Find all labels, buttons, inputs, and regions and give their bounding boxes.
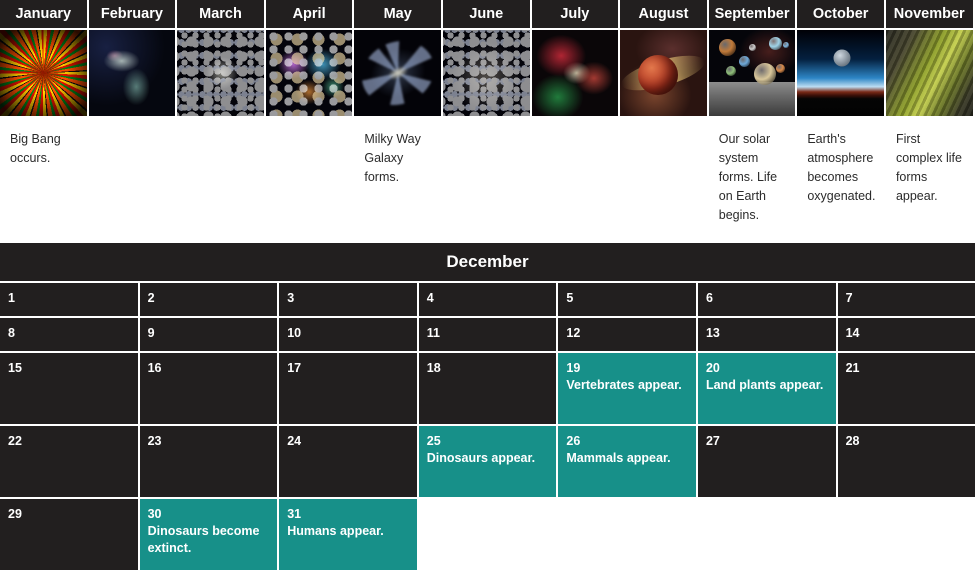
calendar-day-cell-2[interactable]: 2 (140, 283, 278, 316)
planet-7 (783, 42, 789, 48)
calendar-week-row: 22232425Dinosaurs appear.26Mammals appea… (0, 426, 975, 497)
lunar-ground (709, 82, 796, 116)
calendar-day-cell-31[interactable]: 31Humans appear. (279, 499, 417, 570)
month-column-february: February (89, 0, 176, 225)
calendar-day-cell-21[interactable]: 21 (838, 353, 975, 424)
calendar-day-cell-28[interactable]: 28 (838, 426, 975, 497)
planet-5 (754, 63, 776, 85)
calendar-empty-cell (419, 499, 557, 570)
calendar-day-cell-3[interactable]: 3 (279, 283, 417, 316)
calendar-day-cell-24[interactable]: 24 (279, 426, 417, 497)
day-number: 29 (8, 506, 138, 523)
earth-atmosphere-limb-art (797, 30, 884, 116)
calendar-day-cell-1[interactable]: 1 (0, 283, 138, 316)
day-number: 11 (427, 325, 557, 342)
calendar-day-cell-22[interactable]: 22 (0, 426, 138, 497)
deep-field-galaxies-image (443, 30, 530, 116)
month-caption-september: Our solar system forms. Life on Earth be… (709, 116, 796, 225)
day-number: 25 (427, 433, 557, 450)
earth-atmosphere-limb-image (797, 30, 884, 116)
day-number: 24 (287, 433, 417, 450)
day-number: 19 (566, 360, 696, 377)
calendar-day-cell-9[interactable]: 9 (140, 318, 278, 351)
month-header-november: November (886, 0, 973, 28)
month-header-february: February (89, 0, 176, 28)
calendar-day-cell-27[interactable]: 27 (698, 426, 836, 497)
month-caption-august (620, 116, 707, 216)
calendar-day-cell-26[interactable]: 26Mammals appear. (558, 426, 696, 497)
month-header-january: January (0, 0, 87, 28)
calendar-day-cell-16[interactable]: 16 (140, 353, 278, 424)
day-number: 9 (148, 325, 278, 342)
day-number: 12 (566, 325, 696, 342)
day-event-label: Humans appear. (287, 523, 417, 540)
day-number: 10 (287, 325, 417, 342)
month-column-august: August (620, 0, 707, 225)
calendar-day-cell-18[interactable]: 18 (419, 353, 557, 424)
calendar-week-row: 891011121314 (0, 318, 975, 351)
day-number: 22 (8, 433, 138, 450)
calendar-day-cell-8[interactable]: 8 (0, 318, 138, 351)
planet-4 (726, 66, 736, 76)
galaxy-cluster-art (266, 30, 353, 116)
ringed-gas-giant-art (620, 30, 707, 116)
day-number: 5 (566, 290, 696, 307)
day-number: 13 (706, 325, 836, 342)
star-forming-nebula-image (532, 30, 619, 116)
month-header-april: April (266, 0, 353, 28)
calendar-day-cell-13[interactable]: 13 (698, 318, 836, 351)
month-header-may: May (354, 0, 441, 28)
day-number: 4 (427, 290, 557, 307)
planet-3 (739, 56, 750, 67)
big-bang-explosion-art (0, 30, 87, 116)
nebula-pillars-image (89, 30, 176, 116)
month-column-october: OctoberEarth's atmosphere becomes oxygen… (797, 0, 884, 225)
day-number: 28 (846, 433, 975, 450)
month-header-july: July (532, 0, 619, 28)
calendar-week-row: 1234567 (0, 283, 975, 316)
galaxy-cluster-image (266, 30, 353, 116)
month-column-march: March (177, 0, 264, 225)
calendar-day-cell-12[interactable]: 12 (558, 318, 696, 351)
star-cluster-art (177, 30, 264, 116)
month-header-august: August (620, 0, 707, 28)
calendar-title: December (0, 243, 975, 281)
calendar-day-cell-11[interactable]: 11 (419, 318, 557, 351)
month-header-march: March (177, 0, 264, 28)
nebula-pillars-art (89, 30, 176, 116)
day-number: 15 (8, 360, 138, 377)
spiral-galaxy-image (354, 30, 441, 116)
calendar-week-row: 1516171819Vertebrates appear.20Land plan… (0, 353, 975, 424)
moss-covered-rock-art (886, 30, 973, 116)
day-number: 31 (287, 506, 417, 523)
day-number: 26 (566, 433, 696, 450)
month-column-july: July (532, 0, 619, 225)
star-cluster-image (177, 30, 264, 116)
planet-8 (749, 44, 756, 51)
month-caption-may: Milky Way Galaxy forms. (354, 116, 441, 216)
day-number: 30 (148, 506, 278, 523)
month-column-april: April (266, 0, 353, 225)
month-caption-june (443, 116, 530, 216)
month-header-october: October (797, 0, 884, 28)
month-caption-march (177, 116, 264, 216)
calendar-day-cell-23[interactable]: 23 (140, 426, 278, 497)
calendar-week-row: 2930Dinosaurs become extinct.31Humans ap… (0, 499, 975, 570)
calendar-day-cell-4[interactable]: 4 (419, 283, 557, 316)
day-event-label: Dinosaurs become extinct. (148, 523, 278, 557)
calendar-day-cell-30[interactable]: 30Dinosaurs become extinct. (140, 499, 278, 570)
solar-system-planets-art (709, 30, 796, 116)
day-event-label: Dinosaurs appear. (427, 450, 557, 467)
day-number: 20 (706, 360, 836, 377)
day-number: 21 (846, 360, 975, 377)
day-number: 3 (287, 290, 417, 307)
spiral-galaxy-art (354, 30, 441, 116)
calendar-day-cell-6[interactable]: 6 (698, 283, 836, 316)
day-number: 8 (8, 325, 138, 342)
day-number: 7 (846, 290, 975, 307)
calendar-day-cell-5[interactable]: 5 (558, 283, 696, 316)
month-caption-november: First complex life forms appear. (886, 116, 973, 216)
calendar-day-cell-10[interactable]: 10 (279, 318, 417, 351)
day-number: 6 (706, 290, 836, 307)
planet-1 (719, 39, 736, 56)
calendar-day-cell-25[interactable]: 25Dinosaurs appear. (419, 426, 557, 497)
month-column-may: MayMilky Way Galaxy forms. (354, 0, 441, 225)
december-calendar: December 12345678910111213141516171819Ve… (0, 243, 975, 570)
cosmic-calendar-months-strip: JanuaryBig Bang occurs.FebruaryMarchApri… (0, 0, 975, 225)
star-forming-nebula-art (532, 30, 619, 116)
month-caption-january: Big Bang occurs. (0, 116, 87, 216)
ringed-gas-giant-image (620, 30, 707, 116)
day-event-label: Vertebrates appear. (566, 377, 696, 394)
calendar-day-cell-20[interactable]: 20Land plants appear. (698, 353, 836, 424)
day-number: 23 (148, 433, 278, 450)
day-event-label: Land plants appear. (706, 377, 836, 394)
day-number: 2 (148, 290, 278, 307)
month-caption-october: Earth's atmosphere becomes oxygenated. (797, 116, 884, 216)
calendar-empty-cell (698, 499, 836, 570)
month-caption-july (532, 116, 619, 216)
calendar-day-cell-29[interactable]: 29 (0, 499, 138, 570)
planet-6 (776, 64, 785, 73)
day-number: 16 (148, 360, 278, 377)
month-column-september: SeptemberOur solar system forms. Life on… (709, 0, 796, 225)
planet-2 (769, 37, 782, 50)
solar-system-planets-image (709, 30, 796, 116)
calendar-day-cell-14[interactable]: 14 (838, 318, 975, 351)
month-column-november: NovemberFirst complex life forms appear. (886, 0, 973, 225)
deep-field-galaxies-art (443, 30, 530, 116)
day-number: 14 (846, 325, 975, 342)
calendar-empty-cell (558, 499, 696, 570)
day-event-label: Mammals appear. (566, 450, 696, 467)
day-number: 18 (427, 360, 557, 377)
month-column-june: June (443, 0, 530, 225)
day-number: 1 (8, 290, 138, 307)
month-caption-february (89, 116, 176, 216)
calendar-empty-cell (838, 499, 975, 570)
calendar-day-cell-19[interactable]: 19Vertebrates appear. (558, 353, 696, 424)
calendar-day-cell-7[interactable]: 7 (838, 283, 975, 316)
big-bang-explosion-image (0, 30, 87, 116)
day-number: 27 (706, 433, 836, 450)
month-column-january: JanuaryBig Bang occurs. (0, 0, 87, 225)
calendar-day-cell-15[interactable]: 15 (0, 353, 138, 424)
moss-covered-rock-image (886, 30, 973, 116)
calendar-day-cell-17[interactable]: 17 (279, 353, 417, 424)
month-header-june: June (443, 0, 530, 28)
day-number: 17 (287, 360, 417, 377)
month-caption-april (266, 116, 353, 216)
month-header-september: September (709, 0, 796, 28)
